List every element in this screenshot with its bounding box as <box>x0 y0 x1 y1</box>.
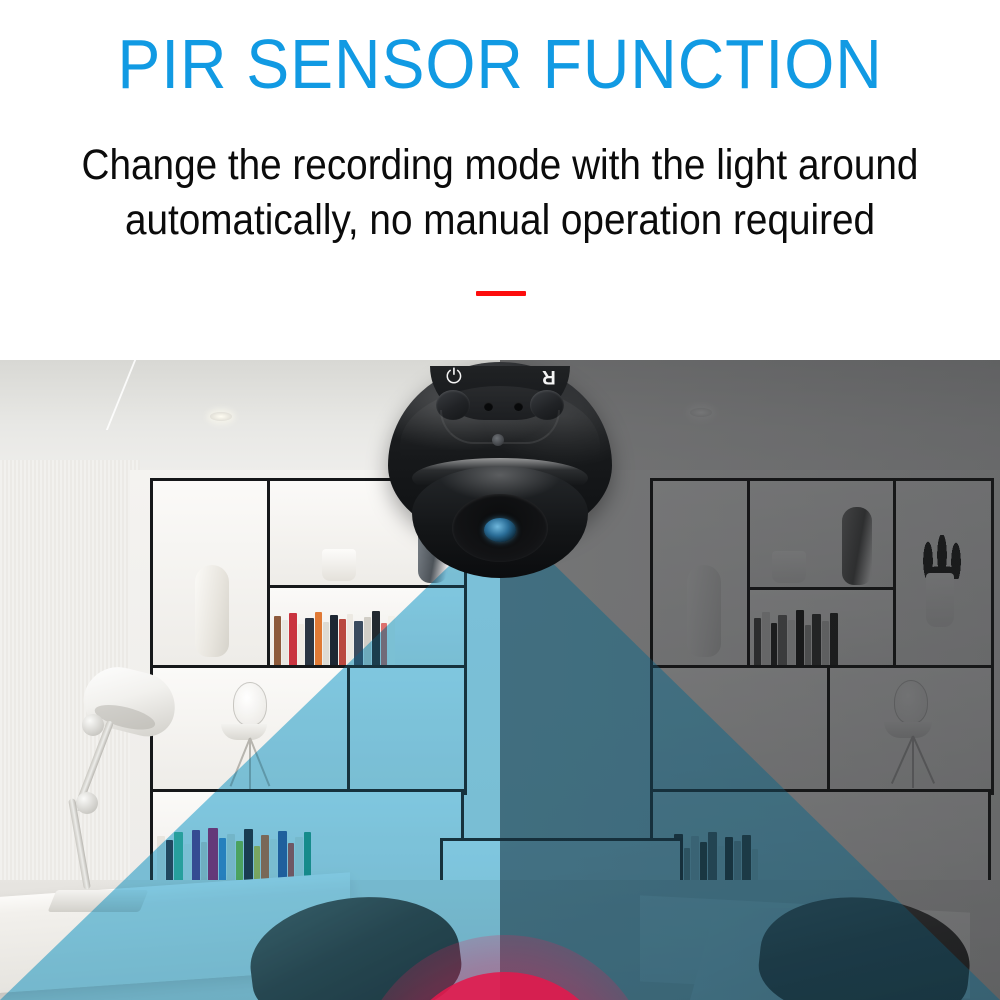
header-section: PIR SENSOR FUNCTION Change the recording… <box>0 0 1000 360</box>
subtitle-line-1: Change the recording mode with the light… <box>50 138 950 193</box>
page-subtitle: Change the recording mode with the light… <box>50 138 950 248</box>
camera-lens-icon <box>484 518 516 542</box>
shelf-cell-books <box>267 585 467 671</box>
subtitle-line-2: automatically, no manual operation requi… <box>50 193 950 248</box>
bulb-object <box>233 682 267 726</box>
lamp-joint <box>82 714 104 736</box>
shelf-cell <box>347 665 467 795</box>
camera-screw-icon <box>492 434 504 446</box>
pot-object <box>322 549 356 581</box>
shelf-cell <box>150 665 350 795</box>
shelf-cell <box>150 478 270 668</box>
red-divider <box>476 291 526 296</box>
power-icon: ⏻ <box>446 366 462 386</box>
lamp-joint <box>76 792 98 814</box>
camera-face <box>412 466 588 578</box>
tripod-lamp <box>223 738 277 790</box>
book-row <box>274 618 461 668</box>
promo-page: PIR SENSOR FUNCTION Change the recording… <box>0 0 1000 1000</box>
lamp-base <box>48 890 149 912</box>
vase-object <box>195 565 229 657</box>
product-scene-photo: Day Night ⏻ R <box>0 360 1000 1000</box>
desk-lamp <box>52 670 172 910</box>
reset-icon-label: R <box>542 366 556 386</box>
page-title: PIR SENSOR FUNCTION <box>40 28 960 100</box>
mini-camera-device: ⏻ R <box>388 362 612 582</box>
downlight-icon <box>210 412 232 421</box>
